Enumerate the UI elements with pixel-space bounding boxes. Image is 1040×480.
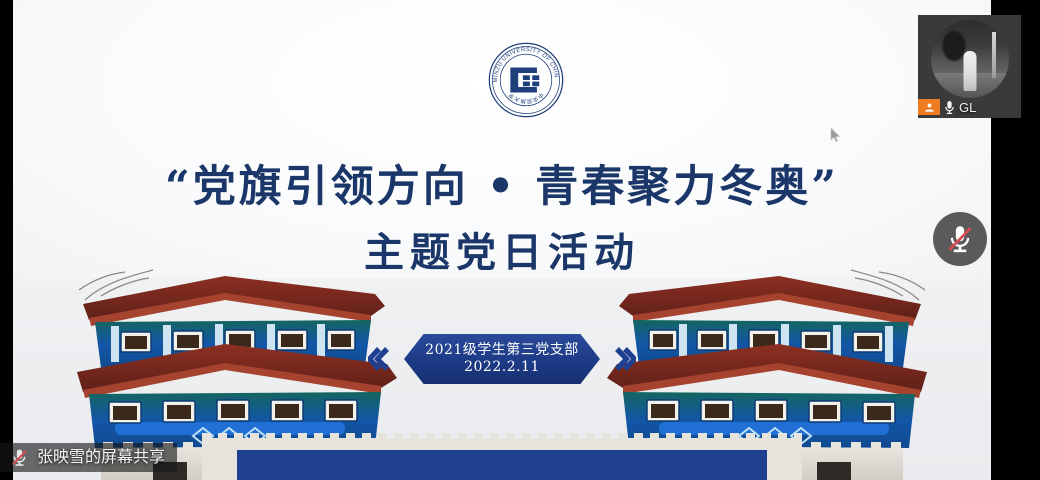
slide-title-sub: 主题党日活动 [13, 220, 991, 278]
svg-text:中央民族大学: 中央民族大学 [506, 91, 545, 106]
screen-share-status-label: 张映雪的屏幕共享 [37, 449, 165, 467]
shared-slide: MINZU UNIVERSITY OF CHINA 中央民族大学 “党旗引领方向… [13, 0, 991, 480]
avatar-photo-person [963, 51, 976, 91]
avatar-photo-pole [992, 32, 996, 78]
letterbox-left [0, 0, 13, 480]
slide-banner-ribbon: 2021级学生第三党支部 2022.2.11 [404, 334, 600, 384]
host-person-icon [918, 99, 940, 115]
minzu-university-seal-icon: MINZU UNIVERSITY OF CHINA 中央民族大学 [487, 41, 565, 119]
mute-toggle-button[interactable] [933, 212, 987, 266]
slide-plinth-bar [237, 450, 767, 480]
banner-line-1: 2021级学生第三党支部 [425, 342, 579, 359]
participant-video-tile[interactable]: GL [918, 15, 1021, 118]
participant-name: GL [959, 101, 976, 114]
chevron-right-icon [614, 344, 636, 374]
slide-banner: 2021级学生第三党支部 2022.2.11 [13, 334, 991, 384]
banner-line-2: 2022.2.11 [464, 359, 540, 376]
microphone-muted-icon-status [10, 448, 29, 467]
participant-tile-footer: GL [918, 96, 976, 118]
screen-share-status-bar: 张映雪的屏幕共享 [0, 443, 177, 472]
meeting-screen-share-view: MINZU UNIVERSITY OF CHINA 中央民族大学 “党旗引领方向… [0, 0, 1040, 480]
microphone-icon [943, 100, 956, 115]
avatar [931, 20, 1009, 98]
chevron-left-icon [368, 344, 390, 374]
slide-title-main: “党旗引领方向 • 青春聚力冬奥” [13, 152, 991, 214]
mouse-pointer-icon [830, 127, 841, 143]
microphone-muted-icon [945, 224, 975, 254]
